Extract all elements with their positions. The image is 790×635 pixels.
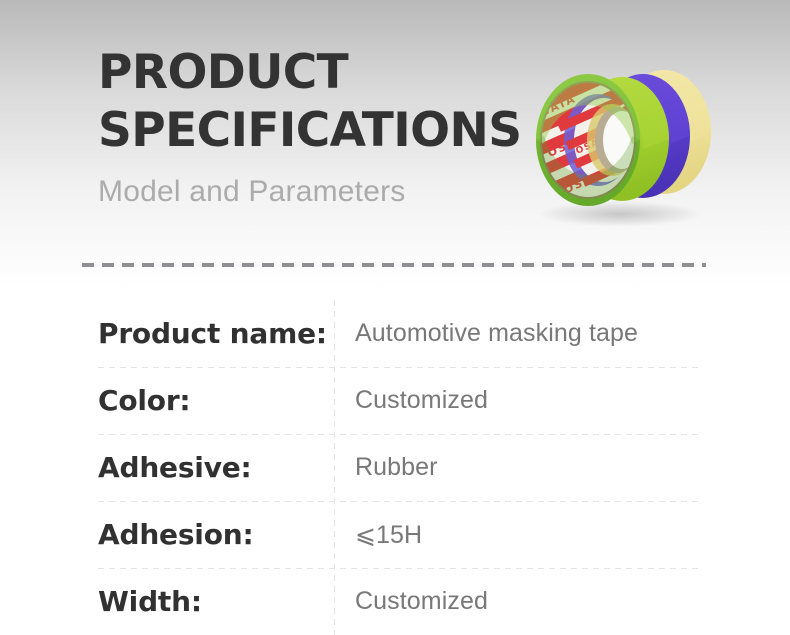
- page-title: PRODUCT SPECIFICATIONS: [98, 44, 528, 160]
- spec-label: Adhesion:: [98, 518, 334, 551]
- spec-value: Customized: [334, 587, 488, 616]
- table-row: Color: Customized: [98, 367, 702, 434]
- spec-value: Rubber: [334, 453, 438, 482]
- spec-label: Width:: [98, 585, 334, 618]
- spec-value: Customized: [334, 386, 488, 415]
- specifications-table: Product name: Automotive masking tape Co…: [98, 300, 702, 635]
- table-row: Width: Customized: [98, 568, 702, 635]
- table-row: Adhesive: Rubber: [98, 434, 702, 501]
- table-row: Adhesion: ⩽15H: [98, 501, 702, 568]
- page-subtitle: Model and Parameters: [98, 174, 528, 210]
- page-header: PRODUCT SPECIFICATIONS Model and Paramet…: [98, 44, 528, 210]
- spec-label: Adhesive:: [98, 451, 334, 484]
- product-image-tape-rolls: OSATA OSATA OSATA OSATA: [512, 48, 730, 226]
- spec-label: Product name:: [98, 317, 334, 350]
- spec-value: ⩽15H: [334, 520, 422, 550]
- spec-value: Automotive masking tape: [334, 319, 638, 348]
- page-background: PRODUCT SPECIFICATIONS Model and Paramet…: [0, 0, 790, 630]
- spec-label: Color:: [98, 384, 334, 417]
- header-divider: [82, 263, 706, 267]
- table-row: Product name: Automotive masking tape: [98, 300, 702, 367]
